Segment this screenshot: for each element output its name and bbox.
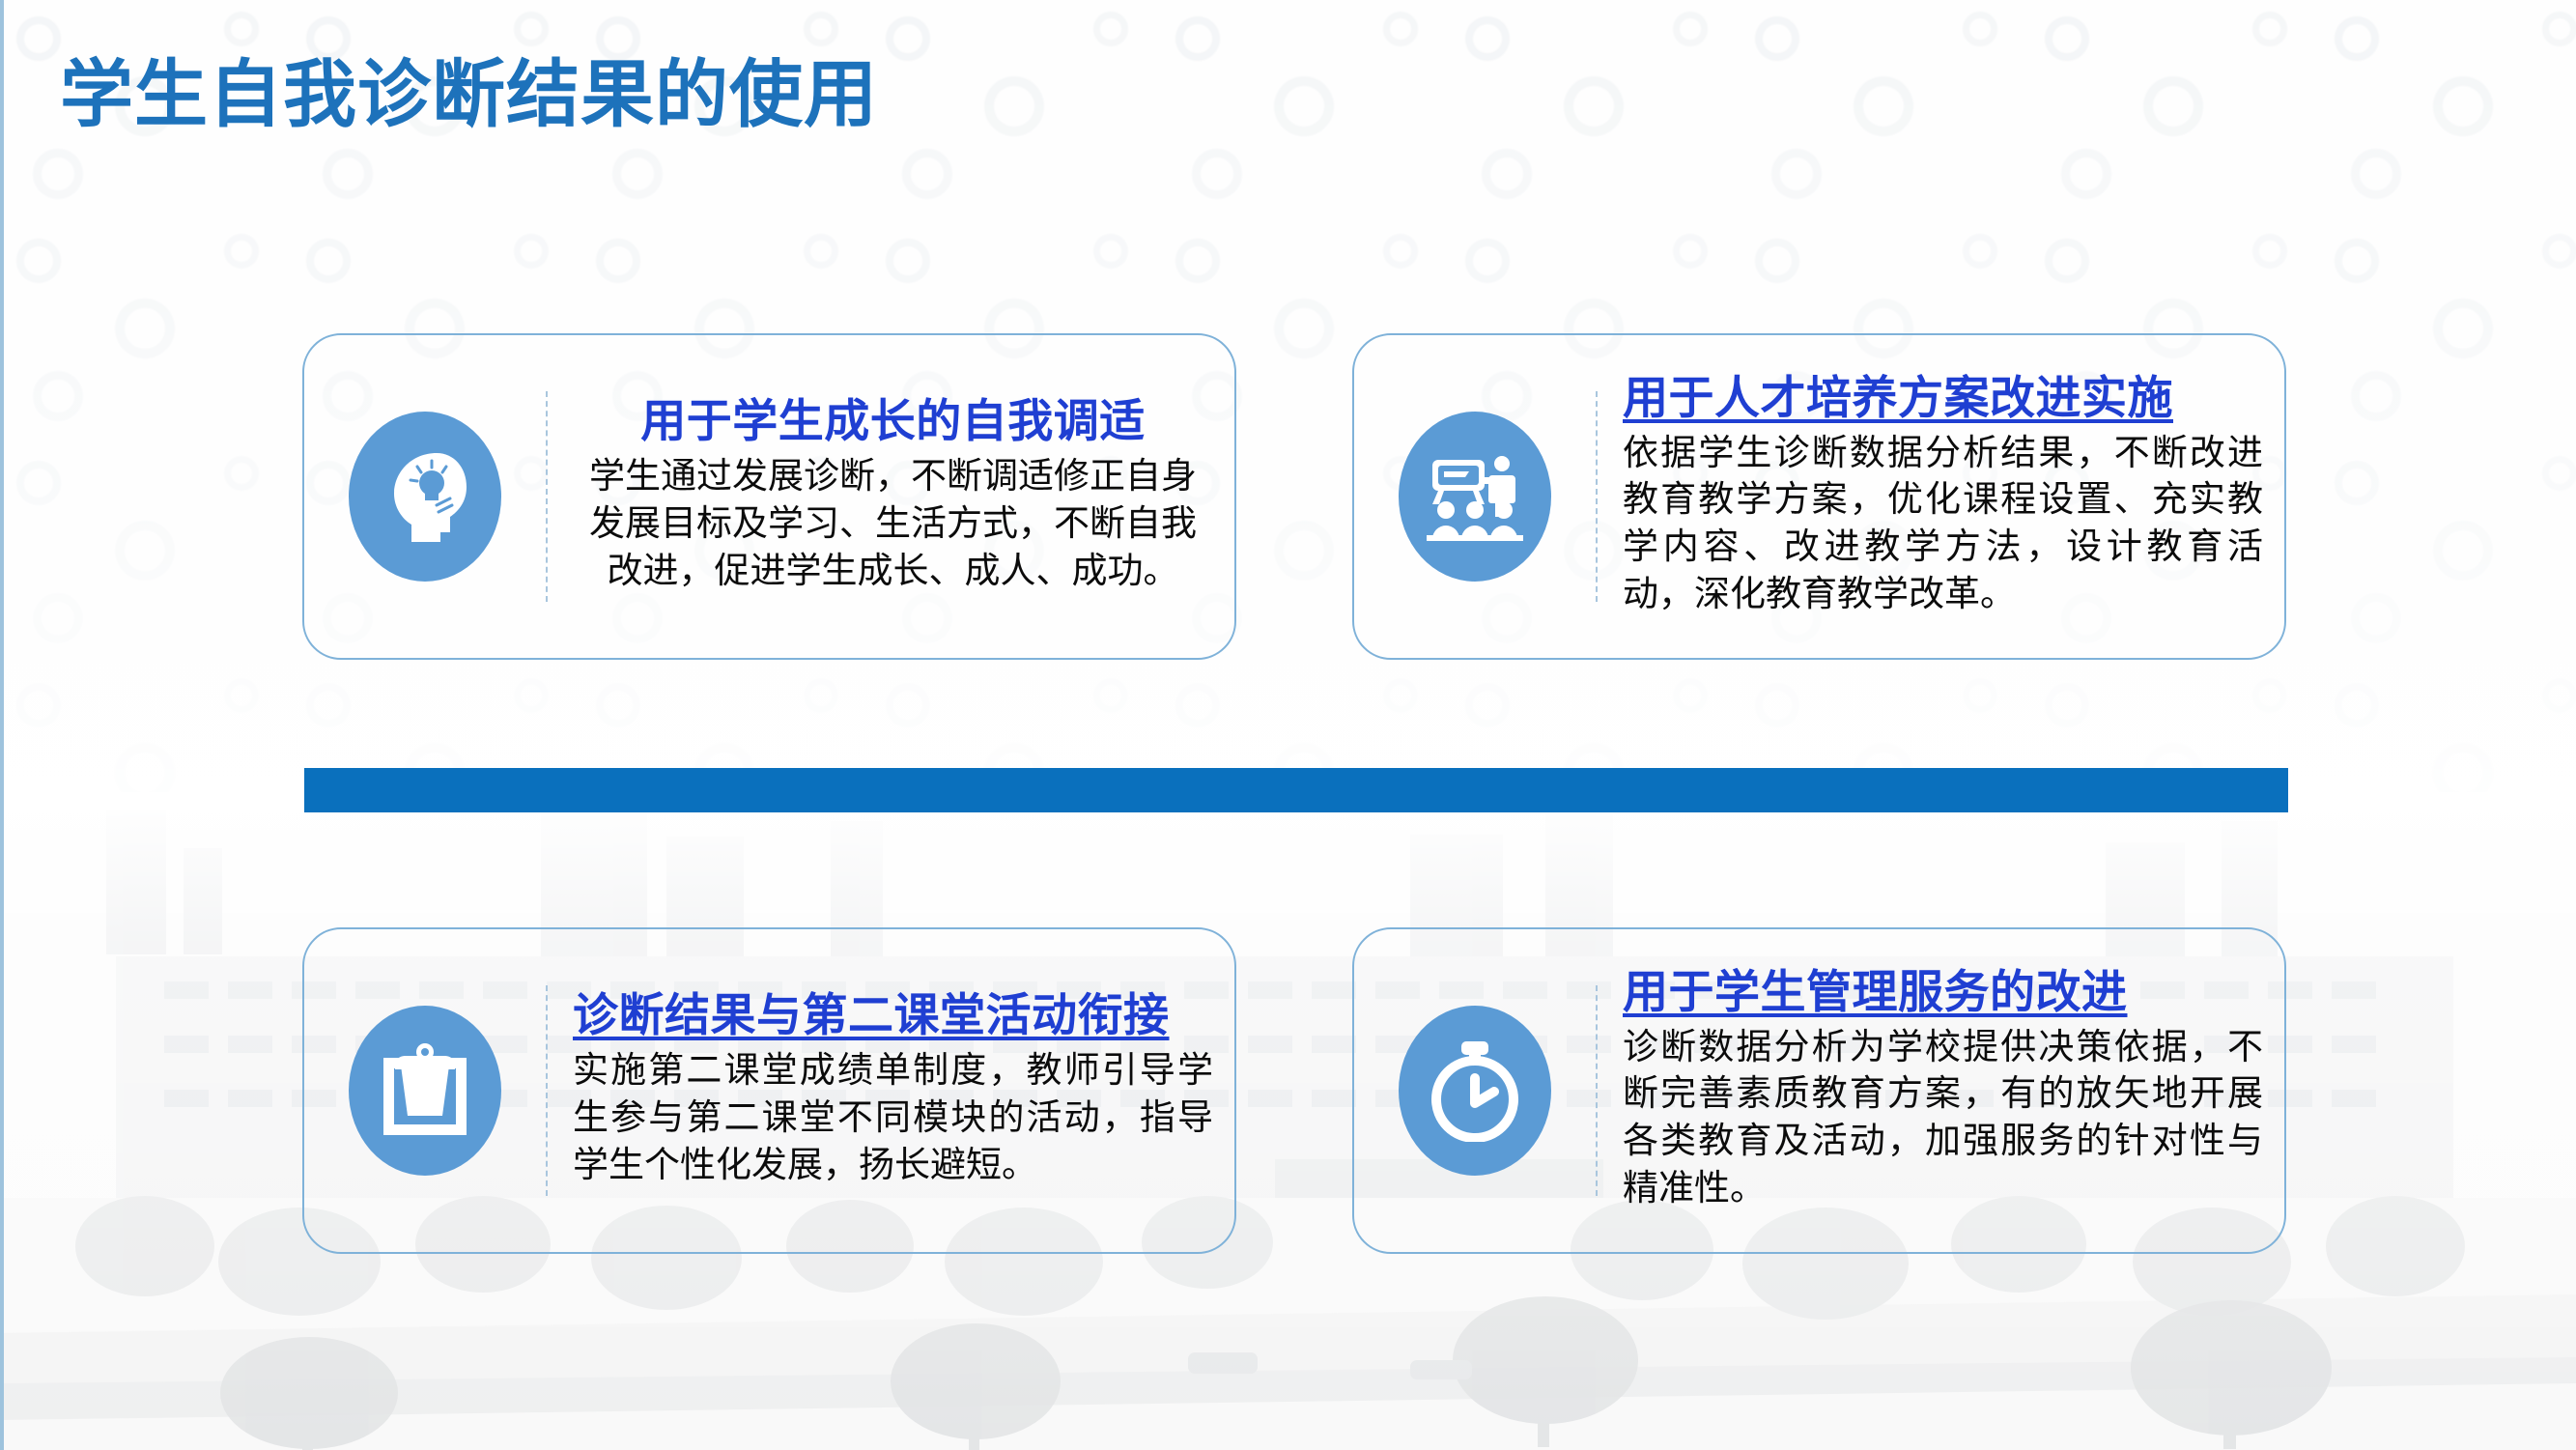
clipboard-icon — [349, 1006, 501, 1176]
info-card-4[interactable]: 用于学生管理服务的改进 诊断数据分析为学校提供决策依据，不断完善素质教育方案，有… — [1352, 927, 2286, 1254]
classroom-teaching-icon — [1399, 412, 1551, 582]
text-column: 用于学生管理服务的改进 诊断数据分析为学校提供决策依据，不断完善素质教育方案，有… — [1598, 968, 2284, 1213]
card-title: 用于学生管理服务的改进 — [1623, 968, 2263, 1019]
head-lightbulb-icon — [349, 412, 501, 582]
icon-column — [304, 929, 546, 1252]
card-body: 学生通过发展诊断，不断调适修正自身发展目标及学习、生活方式，不断自我改进，促进学… — [573, 454, 1213, 595]
card-body: 依据学生诊断数据分析结果，不断改进教育教学方案，优化课程设置、充实教学内容、改进… — [1623, 431, 2263, 619]
icon-column — [1354, 929, 1596, 1252]
slide-left-edge — [0, 0, 4, 1450]
card-body: 实施第二课堂成绩单制度，教师引导学生参与第二课堂不同模块的活动，指导学生个性化发… — [573, 1048, 1213, 1189]
icon-column — [1354, 335, 1596, 658]
card-title: 诊断结果与第二课堂活动衔接 — [573, 991, 1213, 1042]
card-title: 用于学生成长的自我调适 — [573, 397, 1213, 448]
info-card-2[interactable]: 用于人才培养方案改进实施 依据学生诊断数据分析结果，不断改进教育教学方案，优化课… — [1352, 333, 2286, 660]
text-column: 用于学生成长的自我调适 学生通过发展诊断，不断调适修正自身发展目标及学习、生活方… — [548, 397, 1234, 595]
info-card-3[interactable]: 诊断结果与第二课堂活动衔接 实施第二课堂成绩单制度，教师引导学生参与第二课堂不同… — [302, 927, 1236, 1254]
info-card-1[interactable]: 用于学生成长的自我调适 学生通过发展诊断，不断调适修正自身发展目标及学习、生活方… — [302, 333, 1236, 660]
blue-separator-bar — [304, 768, 2288, 812]
card-title: 用于人才培养方案改进实施 — [1623, 374, 2263, 425]
icon-column — [304, 335, 546, 658]
slide-canvas: 学生自我诊断结果的使用 — [0, 0, 2576, 1450]
card-body: 诊断数据分析为学校提供决策依据，不断完善素质教育方案，有的放矢地开展各类教育及活… — [1623, 1025, 2263, 1213]
page-title: 学生自我诊断结果的使用 — [60, 56, 878, 133]
stopwatch-icon — [1399, 1006, 1551, 1176]
text-column: 用于人才培养方案改进实施 依据学生诊断数据分析结果，不断改进教育教学方案，优化课… — [1598, 374, 2284, 619]
text-column: 诊断结果与第二课堂活动衔接 实施第二课堂成绩单制度，教师引导学生参与第二课堂不同… — [548, 991, 1234, 1189]
